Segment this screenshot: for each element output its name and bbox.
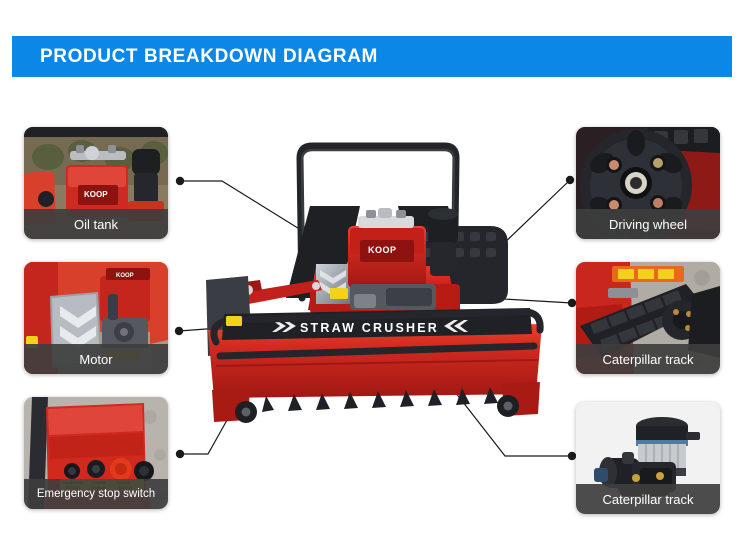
connector-dot-motor bbox=[175, 327, 183, 335]
callout-label-motor: Motor bbox=[24, 344, 168, 374]
connector-dot-track-motor bbox=[568, 452, 576, 460]
product-photo: KOOP STRAW CRUSH bbox=[190, 98, 560, 428]
connector-dot-oil-tank bbox=[176, 177, 184, 185]
svg-text:KOOP: KOOP bbox=[84, 190, 108, 199]
callout-label-caterpillar-track: Caterpillar track bbox=[576, 344, 720, 374]
callout-label-driving-wheel: Driving wheel bbox=[576, 209, 720, 239]
callout-card-oil-tank[interactable]: KOOP Oil tank bbox=[24, 127, 168, 239]
svg-text:KOOP: KOOP bbox=[116, 273, 134, 279]
connector-dot-emergency-stop bbox=[176, 450, 184, 458]
callout-label-oil-tank: Oil tank bbox=[24, 209, 168, 239]
product-breakdown-diagram: KOOP STRAW CRUSH bbox=[0, 88, 744, 558]
callout-card-emergency-stop[interactable]: CHARGINGSOCKET POWERDISPLAY POWERSWITCH … bbox=[24, 397, 168, 509]
callout-card-motor[interactable]: KOOP Motor bbox=[24, 262, 168, 374]
callout-label-emergency-stop: Emergency stop switch bbox=[24, 479, 168, 509]
callout-card-track-motor[interactable]: Caterpillar track bbox=[576, 402, 720, 514]
callout-card-caterpillar-track[interactable]: Caterpillar track bbox=[576, 262, 720, 374]
svg-text:STRAW CRUSHER: STRAW CRUSHER bbox=[300, 321, 439, 335]
header-banner: PRODUCT BREAKDOWN DIAGRAM bbox=[12, 36, 732, 77]
connector-dot-caterpillar-track bbox=[568, 299, 576, 307]
callout-label-track-motor: Caterpillar track bbox=[576, 484, 720, 514]
svg-text:KOOP: KOOP bbox=[368, 245, 397, 255]
page-title: PRODUCT BREAKDOWN DIAGRAM bbox=[12, 46, 378, 68]
callout-card-driving-wheel[interactable]: Driving wheel bbox=[576, 127, 720, 239]
connector-dot-driving-wheel bbox=[566, 176, 574, 184]
